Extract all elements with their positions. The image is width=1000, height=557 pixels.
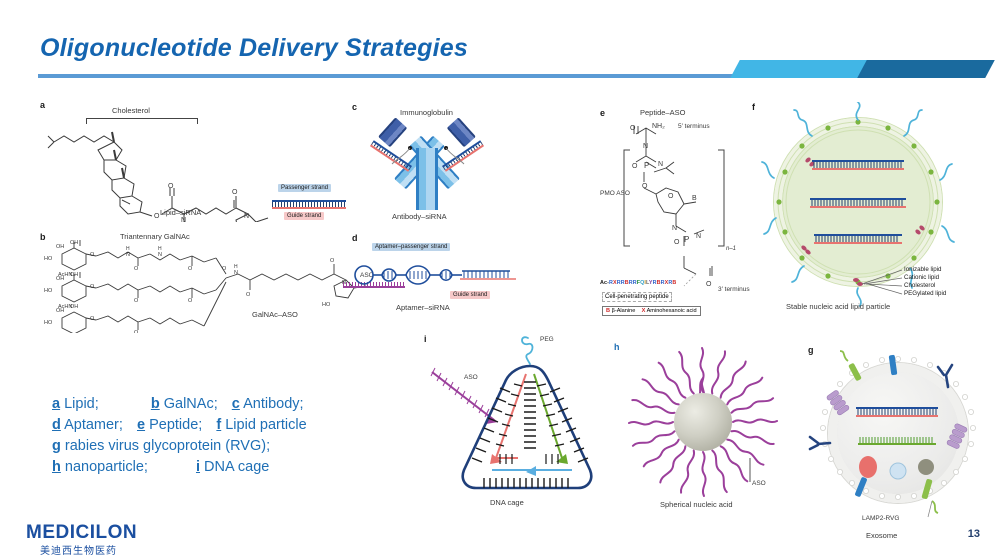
legend-key-h: h xyxy=(52,459,61,475)
svg-text:O: O xyxy=(632,163,638,170)
svg-text:P: P xyxy=(684,235,689,244)
sna-graphic xyxy=(608,340,798,520)
figure-legend: a Lipid; b GalNAc; c Antibody; d Aptamer… xyxy=(52,394,307,478)
svg-text:n–1: n–1 xyxy=(726,246,736,252)
svg-text:O: O xyxy=(90,316,95,322)
svg-text:OH: OH xyxy=(56,244,64,250)
svg-text:N: N xyxy=(643,143,648,150)
legend-line-4: h nanoparticle; i DNA cage xyxy=(52,457,307,478)
legend-text-f: Lipid particle xyxy=(221,417,306,433)
key-x-text: Aminohexanoic acid xyxy=(647,308,697,314)
lipid-sirna-duplex xyxy=(272,200,346,209)
snalp-graphics xyxy=(752,102,992,317)
svg-text:OH: OH xyxy=(56,276,64,282)
legend-key-c: c xyxy=(232,396,240,412)
legend-text-h: nanoparticle; xyxy=(61,459,148,475)
header-accent-dark xyxy=(857,60,995,78)
exosome-caption: Exosome xyxy=(866,531,897,540)
dna-cage-graphic xyxy=(424,330,609,520)
snalp-legend-2: Cholesterol xyxy=(904,282,935,289)
svg-text:OH: OH xyxy=(56,308,64,314)
legend-line-2: d Aptamer; e Peptide; f Lipid particle xyxy=(52,415,307,436)
panel-a-lipid: a Cholesterol xyxy=(40,100,360,222)
title-underline xyxy=(38,74,738,78)
snalp-caption: Stable nucleic acid lipid particle xyxy=(786,302,890,311)
aptamer-sirna-caption: Aptamer–siRNA xyxy=(396,303,450,312)
cpp-caption: Cell-penetrating peptide xyxy=(602,292,672,302)
svg-text:O: O xyxy=(706,281,712,288)
svg-text:O: O xyxy=(90,252,95,258)
lipid-sirna-caption: Lipid–siRNA xyxy=(160,208,201,217)
svg-text:B: B xyxy=(692,195,697,202)
exosome-graphic xyxy=(806,345,996,535)
svg-text:NH₂: NH₂ xyxy=(652,123,665,130)
svg-text:O: O xyxy=(232,189,238,196)
legend-key-d: d xyxy=(52,417,61,433)
panel-d-aptamer: d Aptamer–passenger strand xyxy=(350,233,520,315)
svg-text:O: O xyxy=(188,266,193,272)
svg-text:HO: HO xyxy=(44,288,53,294)
page-number: 13 xyxy=(968,528,980,540)
svg-text:O: O xyxy=(330,258,335,264)
aso-label-h: ASO xyxy=(752,480,766,487)
panel-f-lipid-particle: f xyxy=(752,102,992,317)
snalp-legend-0: Ionizable lipid xyxy=(904,266,942,273)
panel-b-galnac: b Triantennary GalNAc xyxy=(40,232,370,327)
legend-line-3: g rabies virus glycoprotein (RVG); xyxy=(52,436,307,457)
svg-text:OH: OH xyxy=(70,304,78,310)
svg-text:O: O xyxy=(222,266,227,272)
legend-key-g: g xyxy=(52,438,61,454)
svg-text:O: O xyxy=(168,183,174,190)
medicilon-logo-cn: 美迪西生物医药 xyxy=(40,542,117,557)
svg-text:HO: HO xyxy=(322,302,331,308)
key-b-text: β-Alanine xyxy=(612,308,636,314)
svg-text:N: N xyxy=(696,233,701,240)
svg-text:O: O xyxy=(188,298,193,304)
panel-i-dna-cage: i PEG ASO xyxy=(424,330,609,520)
legend-text-g: rabies virus glycoprotein (RVG); xyxy=(61,438,270,454)
key-x-symbol: X xyxy=(642,308,646,314)
peptide-key-box: B β-Alanine X Aminohexanoic acid xyxy=(602,306,701,316)
lamp2-rvg-label: LAMP2-RVG xyxy=(862,515,899,522)
legend-key-a: a xyxy=(52,396,60,412)
svg-text:O: O xyxy=(134,330,139,333)
panel-c-antibody: c Immunoglobulin Antibody–siRNA xyxy=(350,100,515,225)
svg-text:HO: HO xyxy=(44,320,53,326)
svg-text:N: N xyxy=(244,213,249,220)
guide-strand-line xyxy=(272,207,346,209)
page-title: Oligonucleotide Delivery Strategies xyxy=(40,34,468,63)
svg-text:N: N xyxy=(181,217,186,222)
svg-text:O: O xyxy=(246,292,251,298)
medicilon-logo: MEDICILON xyxy=(26,522,137,544)
legend-text-c: Antibody; xyxy=(240,396,304,412)
svg-text:OH: OH xyxy=(70,240,78,246)
aptamer-structure xyxy=(350,257,520,307)
svg-text:HO: HO xyxy=(44,256,53,262)
svg-text:O: O xyxy=(674,239,680,246)
svg-text:N: N xyxy=(126,252,130,258)
cell-penetrating-peptide-sequence: Ac-RXRRBRRFQILYRBRXRB xyxy=(600,280,676,286)
tag-passenger-strand-a: Passenger strand xyxy=(278,184,331,192)
panel-g-rvg-exosome: g xyxy=(806,345,996,535)
key-b-symbol: B xyxy=(606,308,610,314)
svg-text:O: O xyxy=(90,284,95,290)
svg-text:O: O xyxy=(642,183,648,190)
slide-root: Oligonucleotide Delivery Strategies a Ch… xyxy=(0,0,1000,557)
svg-text:N: N xyxy=(658,161,663,168)
galnac-aso-caption: GalNAc–ASO xyxy=(252,310,298,319)
svg-text:OH: OH xyxy=(70,272,78,278)
svg-text:O: O xyxy=(134,266,139,272)
snalp-legend-3: PEGylated lipid xyxy=(904,290,946,297)
legend-text-i: DNA cage xyxy=(200,459,269,475)
tag-guide-strand-a: Guide strand xyxy=(284,212,324,220)
svg-text:O: O xyxy=(630,125,636,132)
antibody-sirna-caption: Antibody–siRNA xyxy=(392,212,447,221)
svg-text:O: O xyxy=(134,298,139,304)
panel-h-nanoparticle: h xyxy=(608,340,798,520)
panel-d-label: d xyxy=(352,233,358,243)
legend-text-e: Peptide; xyxy=(145,417,202,433)
antibody-linkers xyxy=(350,100,515,225)
sna-caption: Spherical nucleic acid xyxy=(660,500,733,509)
legend-line-1: a Lipid; b GalNAc; c Antibody; xyxy=(52,394,307,415)
tag-guide-strand-d: Guide strand xyxy=(450,291,490,299)
tag-aptamer-passenger: Aptamer–passenger strand xyxy=(372,243,450,251)
svg-text:N: N xyxy=(672,225,677,232)
legend-text-b: GalNAc; xyxy=(160,396,218,412)
legend-key-b: b xyxy=(151,396,160,412)
svg-text:P: P xyxy=(644,161,649,170)
legend-key-e: e xyxy=(137,417,145,433)
svg-text:O: O xyxy=(668,193,674,200)
legend-text-d: Aptamer; xyxy=(61,417,123,433)
dna-cage-caption: DNA cage xyxy=(490,498,524,507)
peptide-prefix: Ac- xyxy=(600,280,609,286)
svg-text:N: N xyxy=(234,270,238,276)
legend-text-a: Lipid; xyxy=(60,396,99,412)
svg-text:N: N xyxy=(158,252,162,258)
galnac-structure: OH OH HO AcHN OH OH HO AcHN OH OH HO O O… xyxy=(40,238,370,333)
snalp-legend-1: Cationic lipid xyxy=(904,274,939,281)
